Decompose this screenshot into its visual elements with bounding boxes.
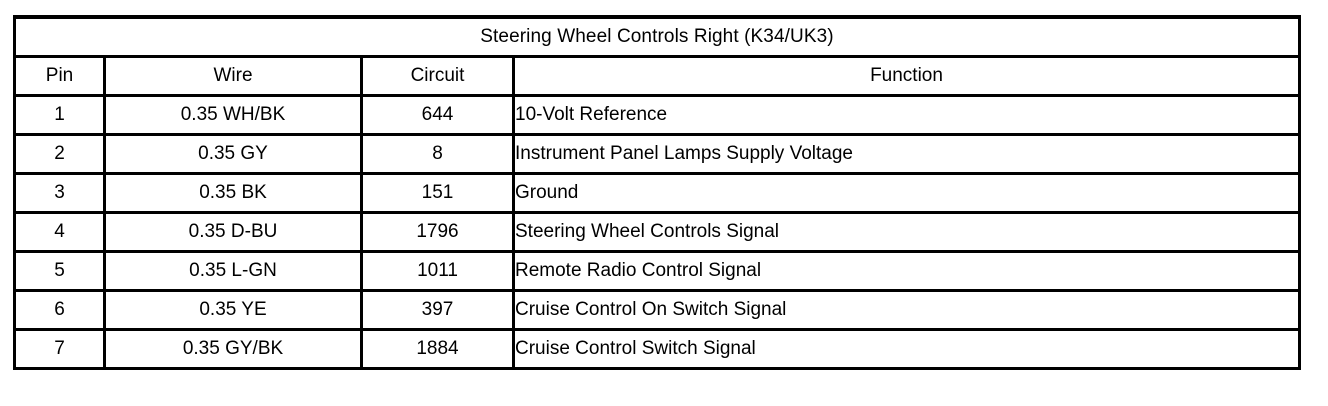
table-row: 7 0.35 GY/BK 1884 Cruise Control Switch … (15, 330, 1300, 369)
column-header-wire: Wire (105, 57, 362, 96)
cell-circuit: 151 (362, 174, 514, 213)
cell-wire: 0.35 BK (105, 174, 362, 213)
connector-pinout-table: Steering Wheel Controls Right (K34/UK3) … (13, 15, 1301, 370)
table-row: 6 0.35 YE 397 Cruise Control On Switch S… (15, 291, 1300, 330)
cell-pin: 3 (15, 174, 105, 213)
cell-circuit: 8 (362, 135, 514, 174)
cell-function: Ground (514, 174, 1300, 213)
table-row: 2 0.35 GY 8 Instrument Panel Lamps Suppl… (15, 135, 1300, 174)
cell-wire: 0.35 YE (105, 291, 362, 330)
cell-wire: 0.35 L-GN (105, 252, 362, 291)
cell-pin: 4 (15, 213, 105, 252)
page-root: Steering Wheel Controls Right (K34/UK3) … (0, 0, 1328, 406)
table-title-row: Steering Wheel Controls Right (K34/UK3) (15, 17, 1300, 57)
table-row: 4 0.35 D-BU 1796 Steering Wheel Controls… (15, 213, 1300, 252)
cell-circuit: 644 (362, 96, 514, 135)
cell-circuit: 397 (362, 291, 514, 330)
cell-function: Remote Radio Control Signal (514, 252, 1300, 291)
column-header-circuit: Circuit (362, 57, 514, 96)
cell-function: Cruise Control On Switch Signal (514, 291, 1300, 330)
table-column-header-row: Pin Wire Circuit Function (15, 57, 1300, 96)
cell-wire: 0.35 D-BU (105, 213, 362, 252)
table-title: Steering Wheel Controls Right (K34/UK3) (15, 17, 1300, 57)
column-header-pin: Pin (15, 57, 105, 96)
cell-wire: 0.35 WH/BK (105, 96, 362, 135)
cell-function: Steering Wheel Controls Signal (514, 213, 1300, 252)
cell-function: Cruise Control Switch Signal (514, 330, 1300, 369)
table-row: 3 0.35 BK 151 Ground (15, 174, 1300, 213)
cell-function: Instrument Panel Lamps Supply Voltage (514, 135, 1300, 174)
table-header: Steering Wheel Controls Right (K34/UK3) … (15, 17, 1300, 96)
cell-circuit: 1011 (362, 252, 514, 291)
cell-wire: 0.35 GY (105, 135, 362, 174)
table-body: 1 0.35 WH/BK 644 10-Volt Reference 2 0.3… (15, 96, 1300, 369)
table-row: 5 0.35 L-GN 1011 Remote Radio Control Si… (15, 252, 1300, 291)
table-row: 1 0.35 WH/BK 644 10-Volt Reference (15, 96, 1300, 135)
cell-pin: 5 (15, 252, 105, 291)
cell-circuit: 1796 (362, 213, 514, 252)
cell-circuit: 1884 (362, 330, 514, 369)
column-header-function: Function (514, 57, 1300, 96)
cell-pin: 2 (15, 135, 105, 174)
cell-function: 10-Volt Reference (514, 96, 1300, 135)
cell-pin: 1 (15, 96, 105, 135)
cell-pin: 7 (15, 330, 105, 369)
cell-pin: 6 (15, 291, 105, 330)
cell-wire: 0.35 GY/BK (105, 330, 362, 369)
